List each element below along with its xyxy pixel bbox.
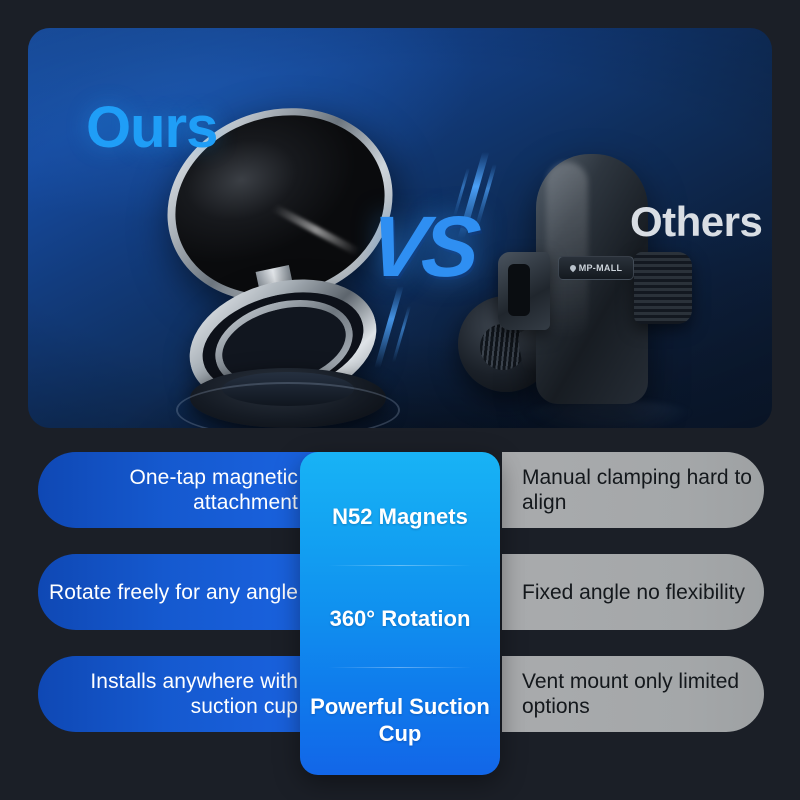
others-cell-text: Fixed angle no flexibility	[522, 580, 745, 605]
holder-body-sheen	[546, 162, 588, 342]
vs-label: VS	[365, 198, 480, 297]
ours-cell-text: One-tap magnetic attachment	[38, 465, 298, 515]
feature-divider	[328, 565, 472, 566]
feature-cell: Powerful Suction Cup	[300, 682, 500, 758]
feature-cell: 360° Rotation	[300, 580, 500, 656]
others-cell-text: Vent mount only limited options	[522, 669, 764, 719]
ours-label: Ours	[86, 94, 217, 161]
feature-divider	[328, 667, 472, 668]
product-comparison-infographic: MP-MALL VS Ours Others One-tap magnetic …	[0, 0, 800, 800]
ours-cell-text: Rotate freely for any angle	[49, 580, 298, 605]
others-label: Others	[630, 198, 762, 246]
holder-right-clamp-arm	[634, 252, 692, 324]
feature-highlight-column: N52 Magnets 360° Rotation Powerful Sucti…	[300, 452, 500, 775]
holder-reflection	[518, 400, 698, 428]
competitor-brand-label: MP-MALL	[579, 263, 623, 273]
others-cell: Vent mount only limited options	[502, 656, 764, 732]
competitor-brand-badge: MP-MALL	[558, 256, 634, 280]
others-cell-text: Manual clamping hard to align	[522, 465, 764, 515]
ours-cell-text: Installs anywhere with suction cup	[38, 669, 298, 719]
ours-cell: Installs anywhere with suction cup	[38, 656, 320, 732]
brand-logo-icon	[568, 264, 576, 272]
feature-cell: N52 Magnets	[300, 478, 500, 554]
ours-cell: Rotate freely for any angle	[38, 554, 320, 630]
vs-badge: VS	[358, 146, 518, 376]
ours-cell: One-tap magnetic attachment	[38, 452, 320, 528]
lightning-streak-icon	[374, 286, 404, 368]
others-cell: Manual clamping hard to align	[502, 452, 764, 528]
others-cell: Fixed angle no flexibility	[502, 554, 764, 630]
hero-panel: MP-MALL VS Ours Others	[28, 28, 772, 428]
